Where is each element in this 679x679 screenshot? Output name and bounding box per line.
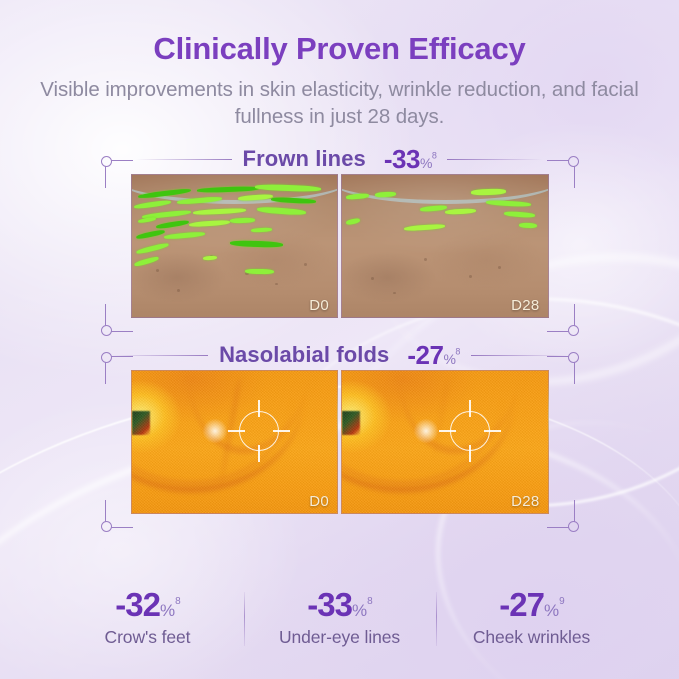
bracket-dot-icon	[101, 352, 112, 363]
section-label-frown-lines: Frown lines	[243, 146, 366, 172]
photo-block-nasolabial-folds: D0 D2	[121, 370, 559, 514]
page-subtitle: Visible improvements in skin elasticity,…	[40, 76, 640, 130]
section-delta-footnote: 8	[432, 150, 437, 160]
bracket-arm-horizontal	[111, 356, 133, 357]
corner-bracket-top-left	[101, 352, 135, 386]
corner-bracket-top-left	[101, 156, 135, 190]
measurement-reticle-icon	[228, 400, 290, 462]
bracket-arm-vertical	[105, 304, 106, 326]
bracket-arm-horizontal	[547, 527, 569, 528]
stat-value: -32%8	[52, 588, 244, 621]
bracket-dot-icon	[568, 521, 579, 532]
stat-footnote: 9	[559, 596, 564, 607]
photo-label-before: D0	[309, 493, 329, 510]
stat-number: -32	[115, 586, 160, 623]
bracket-arm-horizontal	[111, 527, 133, 528]
corner-bracket-top-right	[545, 352, 579, 386]
photo-nasolabial-before: D0	[131, 370, 339, 514]
infographic-root: Clinically Proven Efficacy Visible impro…	[0, 0, 679, 679]
corner-bracket-bottom-left	[101, 302, 135, 336]
bracket-arm-horizontal	[547, 356, 569, 357]
photo-label-after: D28	[511, 297, 539, 314]
bracket-arm-vertical	[574, 304, 575, 326]
bracket-arm-vertical	[105, 500, 106, 522]
corner-bracket-top-right	[545, 156, 579, 190]
bracket-arm-vertical	[574, 362, 575, 384]
stat-value: -33%8	[244, 588, 436, 621]
stat-number: -27	[499, 586, 544, 623]
section-delta-frown-lines: -33%8	[384, 144, 437, 175]
section-delta-percent: %	[443, 351, 455, 367]
reticle-glint	[202, 418, 228, 444]
bracket-dot-icon	[101, 156, 112, 167]
photo-label-after: D28	[511, 493, 539, 510]
bracket-arm-horizontal	[547, 160, 569, 161]
stat-percent: %	[160, 601, 175, 620]
stat-label: Under-eye lines	[244, 627, 436, 648]
stat-crows-feet: -32%8 Crow's feet	[52, 588, 244, 648]
photo-pair-nasolabial-folds: D0 D2	[131, 370, 549, 514]
section-nasolabial-folds: Nasolabial folds -27%8	[0, 340, 679, 514]
corner-bracket-bottom-right	[545, 302, 579, 336]
photo-label-before: D0	[309, 297, 329, 314]
measurement-reticle-icon	[439, 400, 501, 462]
photo-nasolabial-after: D28	[341, 370, 549, 514]
section-delta-percent: %	[420, 155, 432, 171]
page-title: Clinically Proven Efficacy	[0, 32, 679, 66]
stat-label: Crow's feet	[52, 627, 244, 648]
reticle-tick-bottom	[469, 445, 471, 462]
title-rule-left	[136, 159, 232, 160]
stat-cheek-wrinkles: -27%9 Cheek wrinkles	[436, 588, 628, 648]
skin-sheen	[342, 175, 548, 317]
photo-frown-lines-before: D0	[131, 174, 339, 318]
section-frown-lines: Frown lines -33%8	[0, 144, 679, 318]
section-label-nasolabial-folds: Nasolabial folds	[219, 342, 389, 368]
stat-percent: %	[352, 601, 367, 620]
stat-footnote: 8	[175, 596, 180, 607]
stat-label: Cheek wrinkles	[436, 627, 628, 648]
stat-percent: %	[544, 601, 559, 620]
photo-block-frown-lines: D0	[121, 174, 559, 318]
stat-number: -33	[307, 586, 352, 623]
reticle-tick-bottom	[258, 445, 260, 462]
bracket-arm-vertical	[105, 166, 106, 188]
section-delta-value: -27	[407, 340, 443, 370]
corner-bracket-bottom-left	[101, 498, 135, 532]
bracket-arm-horizontal	[547, 331, 569, 332]
section-delta-value: -33	[384, 144, 420, 174]
reticle-tick-top	[469, 400, 471, 417]
section-delta-nasolabial-folds: -27%8	[407, 340, 460, 371]
reticle-tick-right	[484, 430, 501, 432]
bracket-arm-vertical	[105, 362, 106, 384]
reticle-tick-left	[228, 430, 245, 432]
corner-bracket-bottom-right	[545, 498, 579, 532]
bracket-arm-vertical	[574, 166, 575, 188]
bracket-arm-horizontal	[111, 160, 133, 161]
photo-pair-frown-lines: D0	[131, 174, 549, 318]
stat-under-eye-lines: -33%8 Under-eye lines	[244, 588, 436, 648]
reticle-tick-top	[258, 400, 260, 417]
photo-frown-lines-after: D28	[341, 174, 549, 318]
stats-row: -32%8 Crow's feet -33%8 Under-eye lines …	[0, 588, 679, 648]
bracket-dot-icon	[568, 325, 579, 336]
stat-value: -27%9	[436, 588, 628, 621]
reticle-glint	[413, 418, 439, 444]
reticle-tick-left	[439, 430, 456, 432]
bracket-arm-vertical	[574, 500, 575, 522]
header: Clinically Proven Efficacy Visible impro…	[0, 0, 679, 130]
section-delta-footnote: 8	[455, 346, 460, 356]
bracket-arm-horizontal	[111, 331, 133, 332]
title-rule-right	[447, 159, 543, 160]
stat-footnote: 8	[367, 596, 372, 607]
reticle-tick-right	[273, 430, 290, 432]
